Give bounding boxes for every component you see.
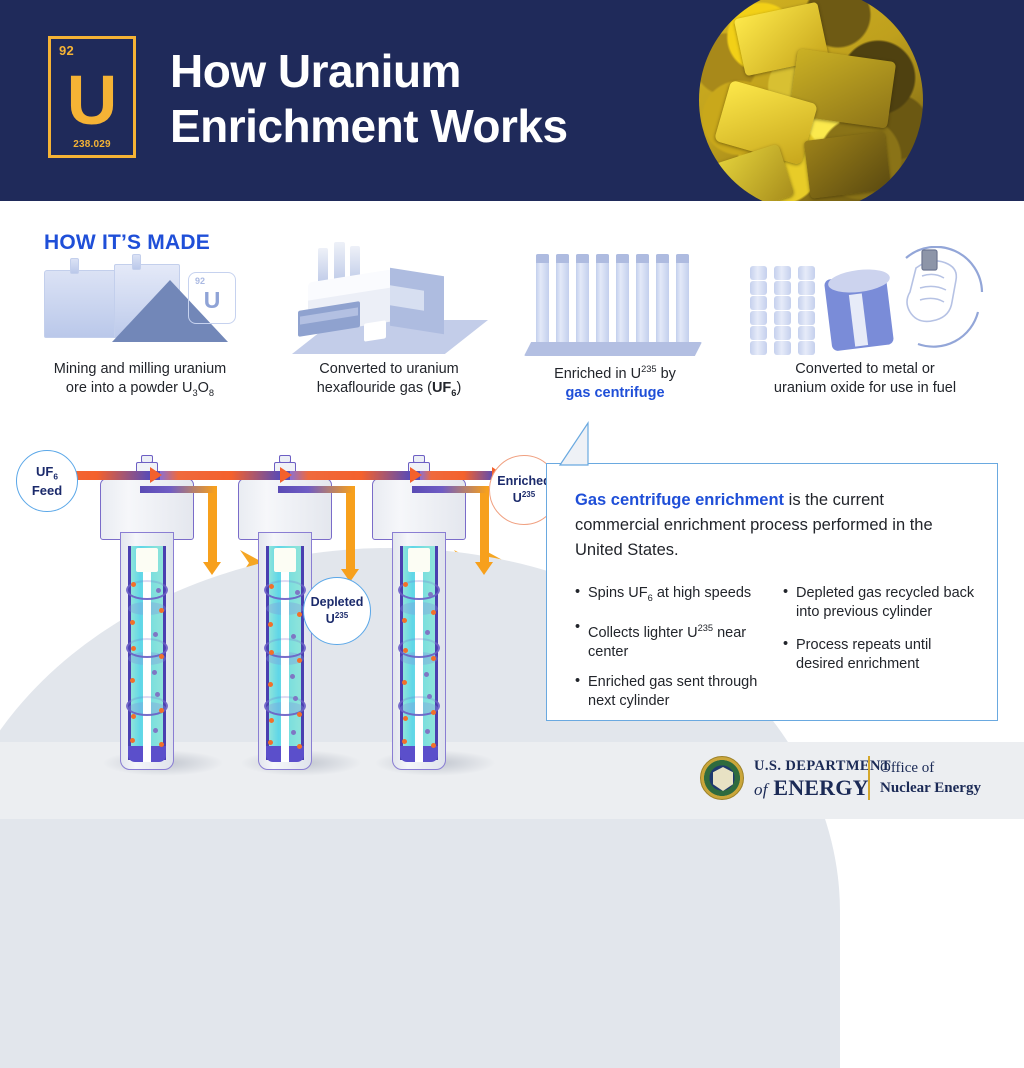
caption-line-2a: ore into a powder U — [66, 380, 193, 396]
uranium-tile-outline-icon: 92 U — [188, 272, 236, 324]
spin-arrow-icon — [264, 638, 306, 658]
uf6-feed-badge: UF6 Feed — [16, 450, 78, 512]
step-mining-milling: 92 U Mining and milling uranium ore into… — [22, 250, 258, 403]
title-line-1: How Uranium — [170, 44, 568, 99]
feed-pipe-segment-3 — [290, 471, 420, 480]
panel-callout-tail — [558, 421, 590, 465]
transfer-pipe-3 — [412, 486, 487, 493]
caption-line-2a: hexaflouride gas ( — [317, 380, 432, 396]
cylinder-rotor-top — [136, 548, 158, 572]
title-line-2: Enrichment Works — [170, 99, 568, 154]
doe-seal-icon — [700, 756, 744, 800]
panel-bullet-lists: Spins UF6 at high speeds Collects lighte… — [575, 584, 975, 722]
feed-arrow-3-icon — [410, 467, 422, 483]
caption-line-2: uranium oxide for use in fuel — [774, 380, 956, 396]
uranium-element-tile: 92 U 238.029 — [48, 36, 136, 158]
caption-line-2b: ) — [456, 380, 461, 396]
office-line-1: Office of — [880, 760, 934, 776]
transfer-pipe-1 — [140, 486, 215, 493]
step-conversion: Converted to uranium hexaflouride gas (U… — [278, 250, 500, 403]
gas-centrifuge-info-panel: Gas centrifuge enrichment is the current… — [546, 463, 998, 721]
caption-line-1a: Enriched in U — [554, 366, 641, 382]
transfer-pipe-2 — [278, 486, 353, 493]
conversion-plant-icon — [278, 250, 500, 360]
feed-arrow-1-icon — [150, 467, 162, 483]
caption-line-1: Converted to uranium — [319, 361, 458, 377]
cylinder-rotor-top — [408, 548, 430, 572]
caption-sup: 235 — [641, 364, 656, 374]
caption-bold: UF — [432, 380, 451, 396]
enriched-badge-line-1: Enriched — [497, 475, 551, 488]
feed-pipe-segment-4 — [420, 471, 500, 480]
feed-badge-line-2: Feed — [32, 484, 62, 497]
doe-logo: U.S. DEPARTMENT of ENERGY Office of Nucl… — [700, 750, 1000, 806]
gas-centrifuge-link[interactable]: gas centrifuge — [565, 385, 664, 401]
caption-sub-2: 8 — [209, 388, 214, 398]
fuel-pellets-icon — [736, 250, 994, 360]
bullet-item: Enriched gas sent through next cylinder — [575, 673, 767, 711]
caption-line-1: Converted to metal or — [795, 361, 934, 377]
depleted-pipe-2 — [346, 486, 355, 571]
office-line-2: Nuclear Energy — [880, 780, 981, 796]
gas-centrifuge-array-icon — [506, 250, 724, 360]
page-title: How Uranium Enrichment Works — [170, 44, 568, 154]
bullet-item: Depleted gas recycled back into previous… — [783, 584, 975, 622]
doe-office-label: Office of Nuclear Energy — [880, 758, 981, 798]
step-caption: Mining and milling uranium ore into a po… — [22, 360, 258, 403]
bullet-column-right: Depleted gas recycled back into previous… — [783, 584, 975, 722]
element-atomic-mass: 238.029 — [51, 139, 133, 150]
process-steps-row: 92 U Mining and milling uranium ore into… — [0, 250, 1024, 425]
spin-arrow-icon — [264, 580, 306, 600]
depleted-arrow-1-icon — [203, 562, 221, 575]
feed-arrow-2-icon — [280, 467, 292, 483]
spin-arrow-icon — [126, 696, 168, 716]
depleted-pipe-1 — [208, 486, 217, 564]
feed-pipe-segment-2 — [160, 471, 290, 480]
panel-intro-bold: Gas centrifuge enrichment — [575, 491, 784, 509]
caption-line-1b: by — [657, 366, 676, 382]
depleted-badge-line-1: Depleted — [311, 596, 364, 609]
feed-badge-line-1: UF6 — [36, 465, 58, 484]
depleted-arrow-3-icon — [475, 562, 493, 575]
bullet-column-left: Spins UF6 at high speeds Collects lighte… — [575, 584, 767, 722]
depleted-u235-badge: Depleted U235 — [303, 577, 371, 645]
cylinder-rotor-top — [274, 548, 296, 572]
bullet-item: Spins UF6 at high speeds — [575, 584, 767, 608]
caption-line-1: Mining and milling uranium — [54, 361, 226, 377]
step-caption: Converted to metal or uranium oxide for … — [736, 360, 994, 398]
bullet-item: Collects lighter U235 near center — [575, 619, 767, 662]
step-caption: Enriched in U235 by gas centrifuge — [506, 360, 724, 403]
page-header: 92 U 238.029 How Uranium Enrichment Work… — [0, 0, 1024, 201]
element-atomic-number: 92 — [59, 43, 74, 58]
yellowcake-uranium-photo — [699, 0, 923, 201]
panel-intro-text: Gas centrifuge enrichment is the current… — [575, 488, 967, 563]
depleted-badge-line-2: U235 — [326, 609, 348, 626]
doe-energy-line: of ENERGY — [754, 775, 869, 801]
mining-milling-icon: 92 U — [22, 250, 258, 360]
step-fuel-fabrication: Converted to metal or uranium oxide for … — [736, 250, 994, 398]
step-caption: Converted to uranium hexaflouride gas (U… — [278, 360, 500, 403]
element-symbol: U — [67, 65, 118, 135]
depleted-pipe-3 — [480, 486, 489, 564]
caption-line-2b: O — [198, 380, 209, 396]
step-enrichment: Enriched in U235 by gas centrifuge — [506, 250, 724, 403]
enriched-badge-line-2: U235 — [513, 488, 535, 505]
bullet-item: Process repeats until desired enrichment — [783, 636, 975, 674]
doe-divider — [868, 756, 870, 800]
doe-department-line: U.S. DEPARTMENT — [754, 758, 891, 775]
